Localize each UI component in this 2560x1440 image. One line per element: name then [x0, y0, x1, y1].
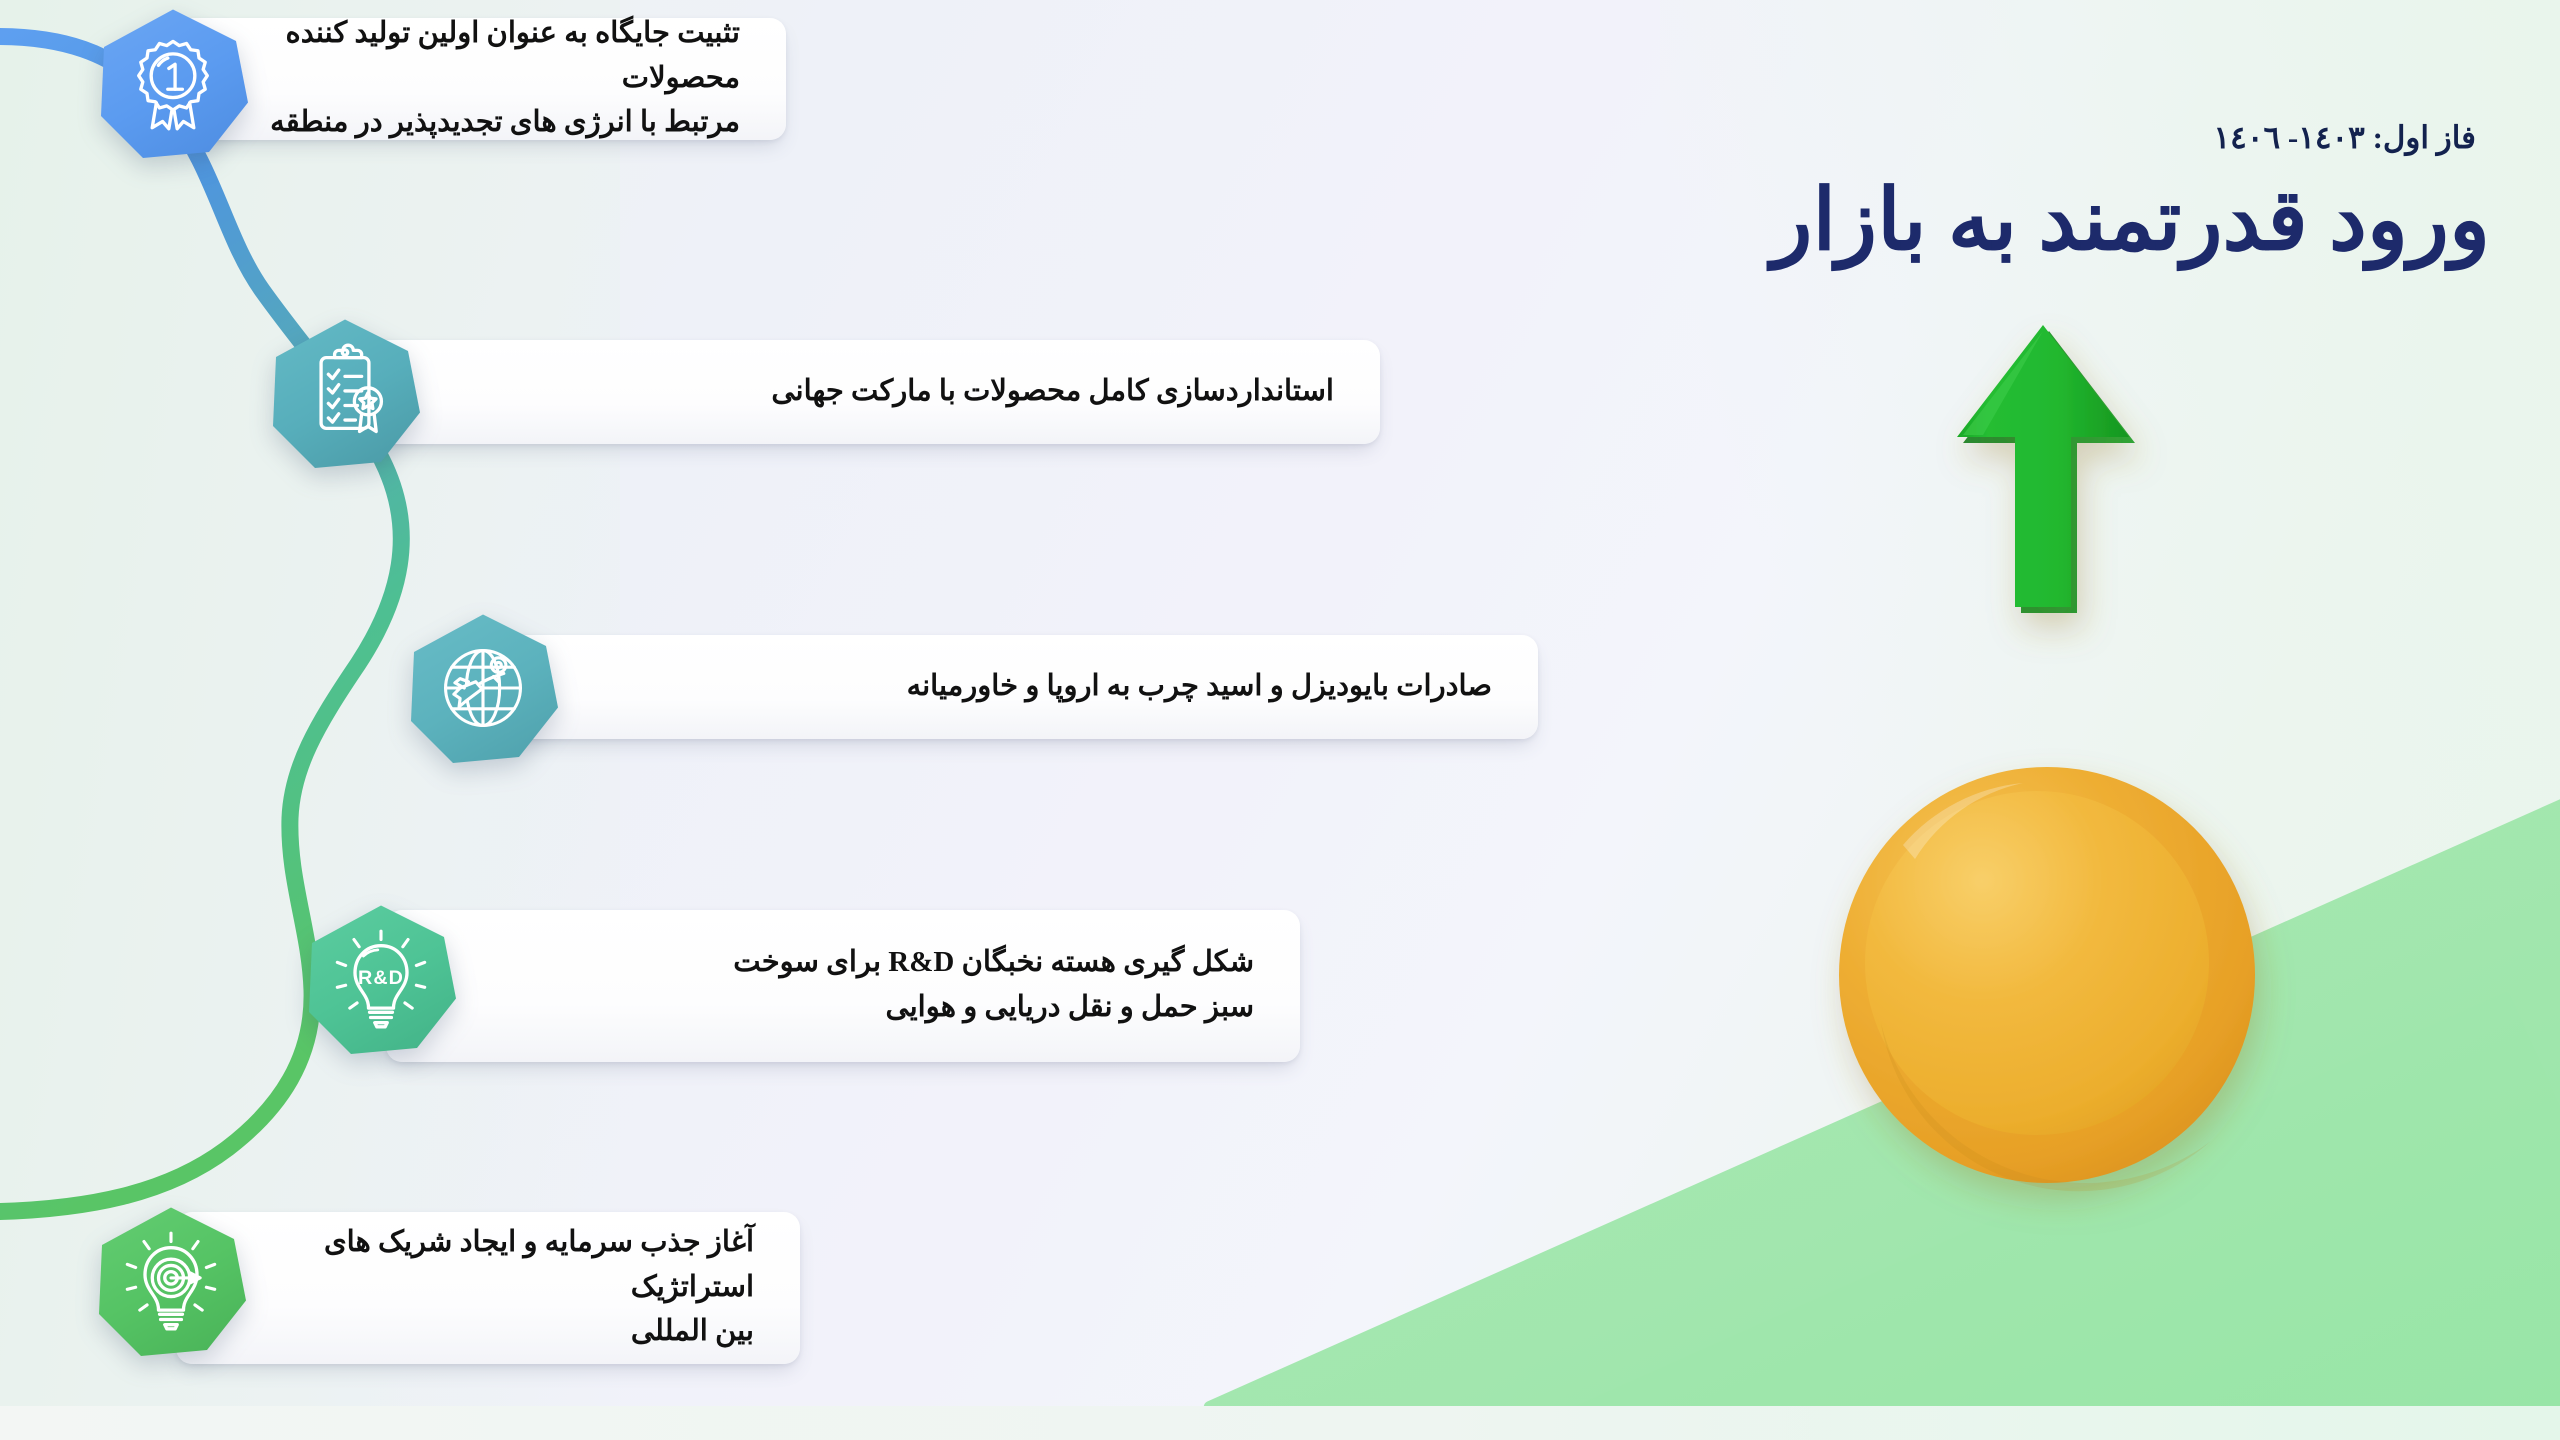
roadmap-step-1[interactable]: تثبیت جایگاه به عنوان اولین تولید کننده … — [178, 18, 786, 140]
medal-ribbon-icon — [121, 31, 225, 135]
globe-airplane-icon — [431, 636, 535, 740]
step-3-card[interactable]: صادرات بایودیزل و اسید چرب به اروپا و خا… — [488, 635, 1538, 739]
svg-text:R&D: R&D — [358, 967, 404, 989]
step-4-card[interactable]: شکل گیری هسته نخبگان R&D برای سوخت سبز ح… — [386, 910, 1300, 1062]
step-3-text: صادرات بایودیزل و اسید چرب به اروپا و خا… — [907, 664, 1492, 709]
step-4-badge[interactable]: R&D — [306, 904, 456, 1054]
step-5-badge[interactable] — [96, 1206, 246, 1356]
step-1-text: تثبیت جایگاه به عنوان اولین تولید کننده … — [248, 11, 740, 146]
step-2-text: استانداردسازی کامل محصولات با مارکت جهان… — [771, 369, 1334, 414]
roadmap-step-5[interactable]: آغاز جذب سرمایه و ایجاد شریک های استراتژ… — [176, 1212, 800, 1364]
step-3-badge[interactable] — [408, 613, 558, 763]
step-1-badge[interactable] — [98, 8, 248, 158]
step-1-card[interactable]: تثبیت جایگاه به عنوان اولین تولید کننده … — [178, 18, 786, 140]
phase-label: فاز اول: ١٤٠٣- ١٤٠٦ — [1430, 120, 2490, 156]
roadmap-step-3[interactable]: صادرات بایودیزل و اسید چرب به اروپا و خا… — [488, 635, 1538, 739]
gold-coin-3d-icon — [1839, 767, 2255, 1191]
step-5-text: آغاز جذب سرمایه و ایجاد شریک های استراتژ… — [246, 1220, 754, 1355]
step-2-badge[interactable] — [270, 318, 420, 468]
step-5-card[interactable]: آغاز جذب سرمایه و ایجاد شریک های استراتژ… — [176, 1212, 800, 1364]
infographic-canvas: تثبیت جایگاه به عنوان اولین تولید کننده … — [0, 0, 2560, 1440]
growth-artwork — [1785, 285, 2305, 1295]
arrow-coin-illustration — [1785, 285, 2305, 1295]
header-block: فاز اول: ١٤٠٣- ١٤٠٦ ورود قدرتمند به بازا… — [1430, 120, 2490, 274]
roadmap-step-2[interactable]: استانداردسازی کامل محصولات با مارکت جهان… — [350, 340, 1380, 444]
up-arrow-3d-icon — [1957, 325, 2135, 613]
step-4-text: شکل گیری هسته نخبگان R&D برای سوخت سبز ح… — [733, 940, 1254, 1030]
clipboard-checklist-badge-icon — [293, 341, 397, 445]
target-lightbulb-icon — [119, 1229, 223, 1333]
roadmap-step-4[interactable]: شکل گیری هسته نخبگان R&D برای سوخت سبز ح… — [386, 910, 1300, 1062]
step-2-card[interactable]: استانداردسازی کامل محصولات با مارکت جهان… — [350, 340, 1380, 444]
page-title: ورود قدرتمند به بازار — [1430, 170, 2490, 274]
rnd-lightbulb-icon: R&D — [329, 927, 433, 1031]
